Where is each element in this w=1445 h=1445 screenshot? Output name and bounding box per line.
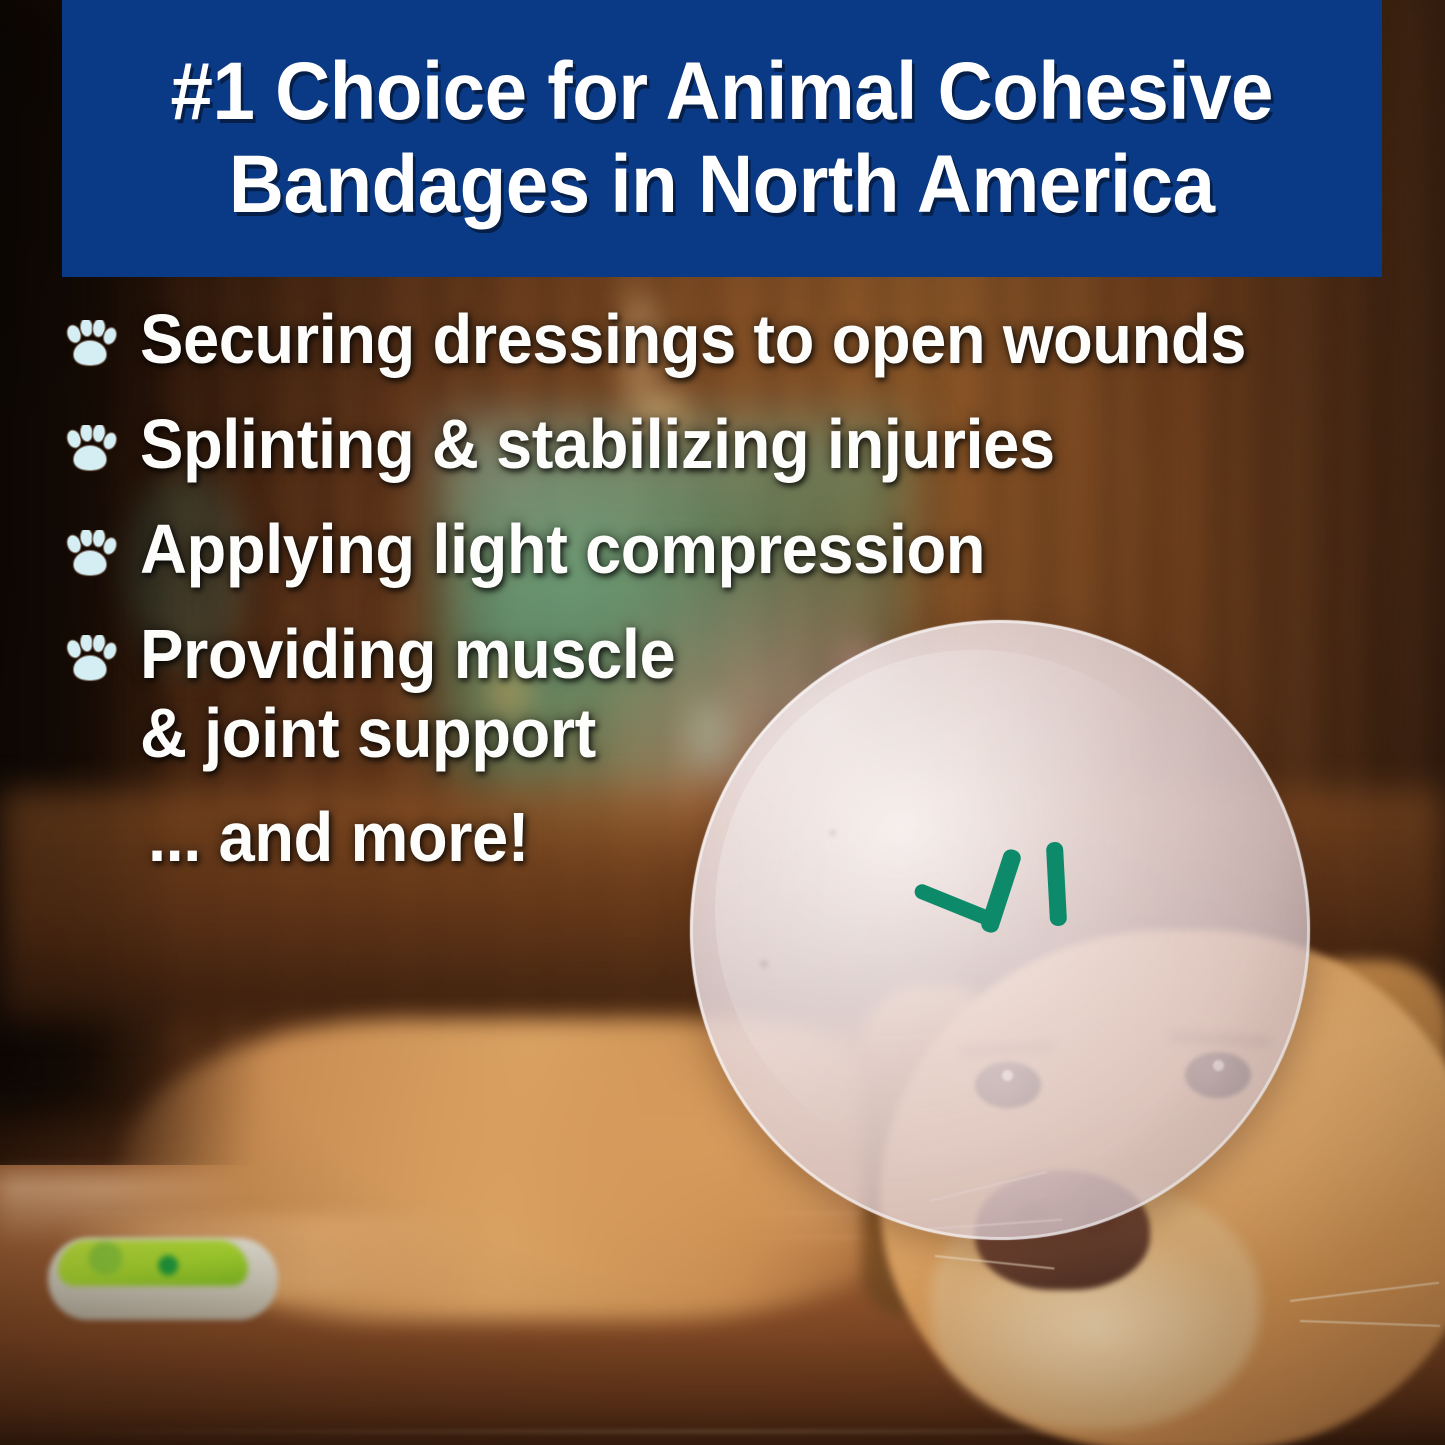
promo-banner-image: #1 Choice for Animal Cohesive Bandages i…: [0, 0, 1445, 1445]
list-item-label: Providing muscle & joint support: [140, 615, 675, 773]
list-item: Applying light compression: [62, 510, 1432, 589]
paw-print-icon: [62, 425, 118, 477]
green-cohesive-bandage: [58, 1240, 248, 1286]
list-item: Securing dressings to open wounds: [62, 300, 1432, 379]
and-more-label: ... and more!: [148, 799, 1342, 876]
list-item-label: Applying light compression: [140, 510, 985, 589]
paw-print-icon: [62, 635, 118, 687]
paw-print-icon: [62, 530, 118, 582]
list-item-label: Securing dressings to open wounds: [140, 300, 1246, 379]
list-item: Splinting & stabilizing injuries: [62, 405, 1432, 484]
list-item-label: Splinting & stabilizing injuries: [140, 405, 1055, 484]
page-title: #1 Choice for Animal Cohesive Bandages i…: [147, 46, 1298, 231]
paw-print-icon: [62, 320, 118, 372]
cone-speck: [760, 960, 768, 968]
list-item: Providing muscle & joint support: [62, 615, 1432, 773]
headline-banner: #1 Choice for Animal Cohesive Bandages i…: [62, 0, 1382, 277]
feature-list: Securing dressings to open wounds Splint…: [62, 300, 1432, 876]
